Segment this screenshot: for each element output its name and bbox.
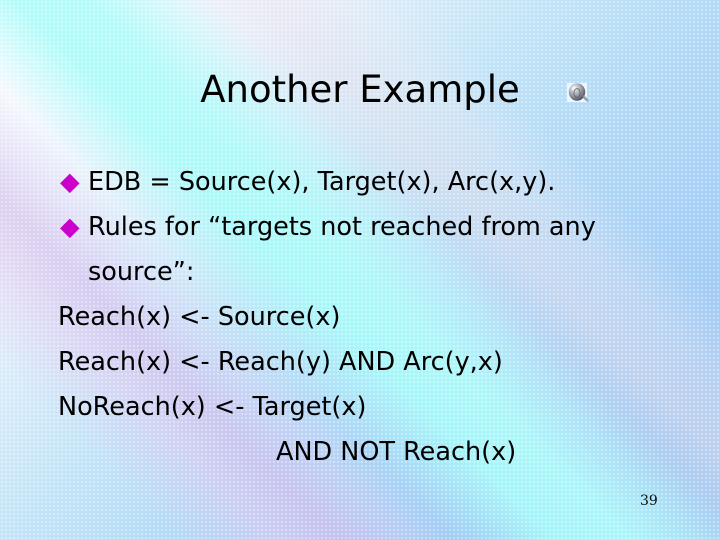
bullet-line-1-text: EDB = Source(x), Target(x), Arc(x,y). [88, 167, 555, 197]
bullet-line-2-continuation: source”: [58, 250, 698, 295]
bullet-line-2-text: Rules for “targets not reached from any [88, 212, 596, 242]
rule-line-3-continuation: AND NOT Reach(x) [58, 430, 698, 475]
slide-content: Another Example [0, 0, 720, 540]
page-title: Another Example [0, 68, 720, 112]
body-text-block: ◆ EDB = Source(x), Target(x), Arc(x,y). … [58, 160, 698, 475]
bullet-line-1: ◆ EDB = Source(x), Target(x), Arc(x,y). [58, 160, 698, 205]
rule-line-3: NoReach(x) <- Target(x) [58, 385, 698, 430]
diamond-bullet-icon: ◆ [60, 205, 80, 250]
rule-line-2: Reach(x) <- Reach(y) AND Arc(y,x) [58, 340, 698, 385]
rule-line-1: Reach(x) <- Source(x) [58, 295, 698, 340]
sphere-ball-icon [565, 80, 591, 106]
bullet-line-2: ◆ Rules for “targets not reached from an… [58, 205, 698, 250]
page-number: 39 [640, 492, 658, 510]
slide-canvas: Another Example [0, 0, 720, 540]
diamond-bullet-icon: ◆ [60, 160, 80, 205]
